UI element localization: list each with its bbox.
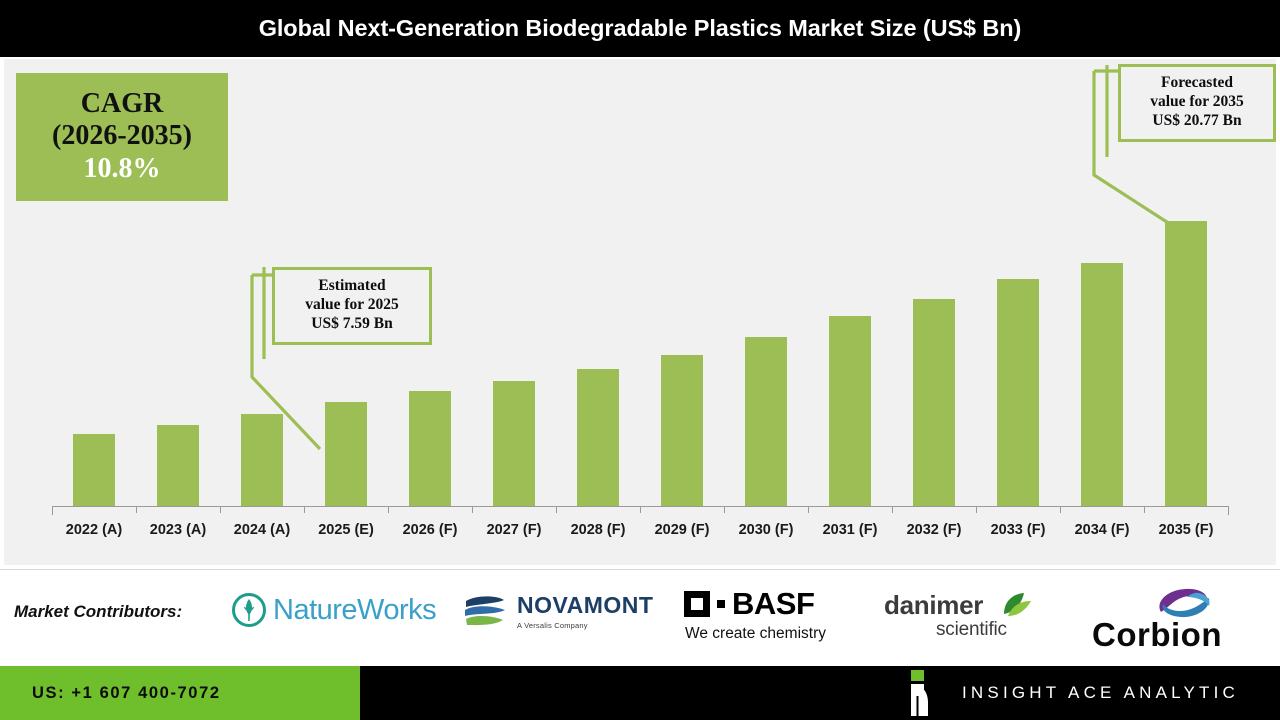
logo-novamont: NOVAMONT A Versalis Company <box>462 591 653 631</box>
brand-lockup: INSIGHT ACE ANALYTIC <box>900 666 1239 720</box>
insightace-logo-icon <box>900 670 940 716</box>
corbion-icon <box>1147 586 1213 620</box>
danimer-tagline: scientific <box>936 619 1007 641</box>
novamont-wordmark: NOVAMONT <box>517 592 653 619</box>
callout-forecast-2035: Forecasted value for 2035 US$ 20.77 Bn <box>1118 64 1276 142</box>
footer-contact-band: US: +1 607 400-7072 <box>0 666 360 720</box>
bar-chart: CAGR (2026-2035) 10.8% 2022 (A)2023 (A)2… <box>4 59 1276 559</box>
title-bar: Global Next-Generation Biodegradable Pla… <box>0 0 1280 57</box>
novamont-icon <box>462 591 508 631</box>
footer-bar: US: +1 607 400-7072 INSIGHT ACE ANALYTIC <box>0 666 1280 720</box>
callout-estimated-line3: US$ 7.59 Bn <box>285 315 419 334</box>
logo-basf: BASF We create chemistry <box>684 588 826 643</box>
contact-phone[interactable]: US: +1 607 400-7072 <box>32 684 221 703</box>
basf-wordmark: BASF <box>732 588 814 619</box>
logo-corbion: Corbion <box>1092 586 1222 651</box>
callout-estimated-2025: Estimated value for 2025 US$ 7.59 Bn <box>272 267 432 345</box>
basf-dot-icon <box>717 600 725 608</box>
basf-tagline: We create chemistry <box>685 625 826 643</box>
infographic-root: Global Next-Generation Biodegradable Pla… <box>0 0 1280 720</box>
callout-forecast-line2: value for 2035 <box>1131 93 1263 112</box>
callout-leader-lines <box>4 59 1276 559</box>
logo-danimer: danimer scientific <box>884 592 1032 641</box>
logo-natureworks: NatureWorks <box>232 593 436 627</box>
danimer-leaf-icon <box>984 592 1032 618</box>
contributors-strip: Market Contributors: NatureWorks <box>0 569 1280 666</box>
danimer-wordmark: danimer <box>884 592 983 618</box>
callout-estimated-line2: value for 2025 <box>285 296 419 315</box>
callout-forecast-line3: US$ 20.77 Bn <box>1131 112 1263 131</box>
natureworks-wordmark: NatureWorks <box>273 594 436 627</box>
callout-estimated-line1: Estimated <box>285 277 419 296</box>
contributors-label: Market Contributors: <box>14 602 182 622</box>
chart-panel: CAGR (2026-2035) 10.8% 2022 (A)2023 (A)2… <box>0 57 1280 569</box>
page-title: Global Next-Generation Biodegradable Pla… <box>259 15 1022 42</box>
novamont-tagline: A Versalis Company <box>517 621 653 630</box>
brand-name: INSIGHT ACE ANALYTIC <box>962 683 1239 703</box>
basf-icon <box>684 591 710 617</box>
corbion-wordmark: Corbion <box>1092 618 1222 651</box>
natureworks-icon <box>232 593 266 627</box>
callout-forecast-line1: Forecasted <box>1131 74 1263 93</box>
